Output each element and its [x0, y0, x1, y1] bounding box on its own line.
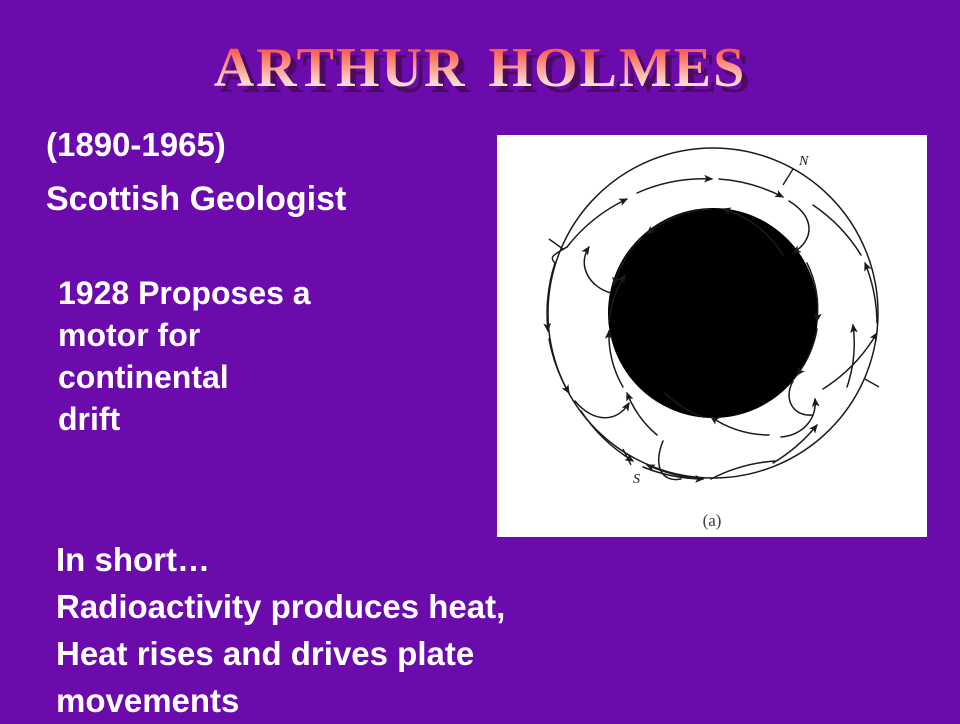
summary-line: In short…	[56, 536, 505, 583]
proposal-line: motor for	[58, 314, 311, 356]
summary-line: movements	[56, 677, 505, 724]
right-tick	[865, 379, 879, 387]
summary-line: Radioactivity produces heat,	[56, 583, 505, 630]
summary-text-block: In short… Radioactivity produces heat, H…	[56, 536, 505, 724]
proposal-line: continental	[58, 356, 311, 398]
life-dates: (1890-1965)	[46, 126, 226, 164]
mantle-convection-diagram: N S	[497, 135, 927, 537]
page-title-text: Arthur Holmes	[0, 14, 960, 106]
left-tick	[549, 239, 563, 249]
slide-canvas: Arthur Holmes Arthur Holmes (1890-1965) …	[0, 0, 960, 720]
figure-caption: (a)	[497, 511, 927, 531]
proposal-text-block: 1928 Proposes a motor for continental dr…	[58, 272, 311, 440]
north-tick	[783, 169, 793, 185]
south-tick	[623, 449, 631, 465]
proposal-line: 1928 Proposes a	[58, 272, 311, 314]
south-pole-label: S	[633, 472, 640, 487]
summary-line: Heat rises and drives plate	[56, 630, 505, 677]
profession-label: Scottish Geologist	[46, 180, 346, 219]
convection-diagram-panel: N S (a)	[497, 135, 927, 537]
north-pole-label: N	[798, 154, 809, 169]
proposal-line: drift	[58, 398, 311, 440]
page-title: Arthur Holmes Arthur Holmes	[0, 14, 960, 114]
